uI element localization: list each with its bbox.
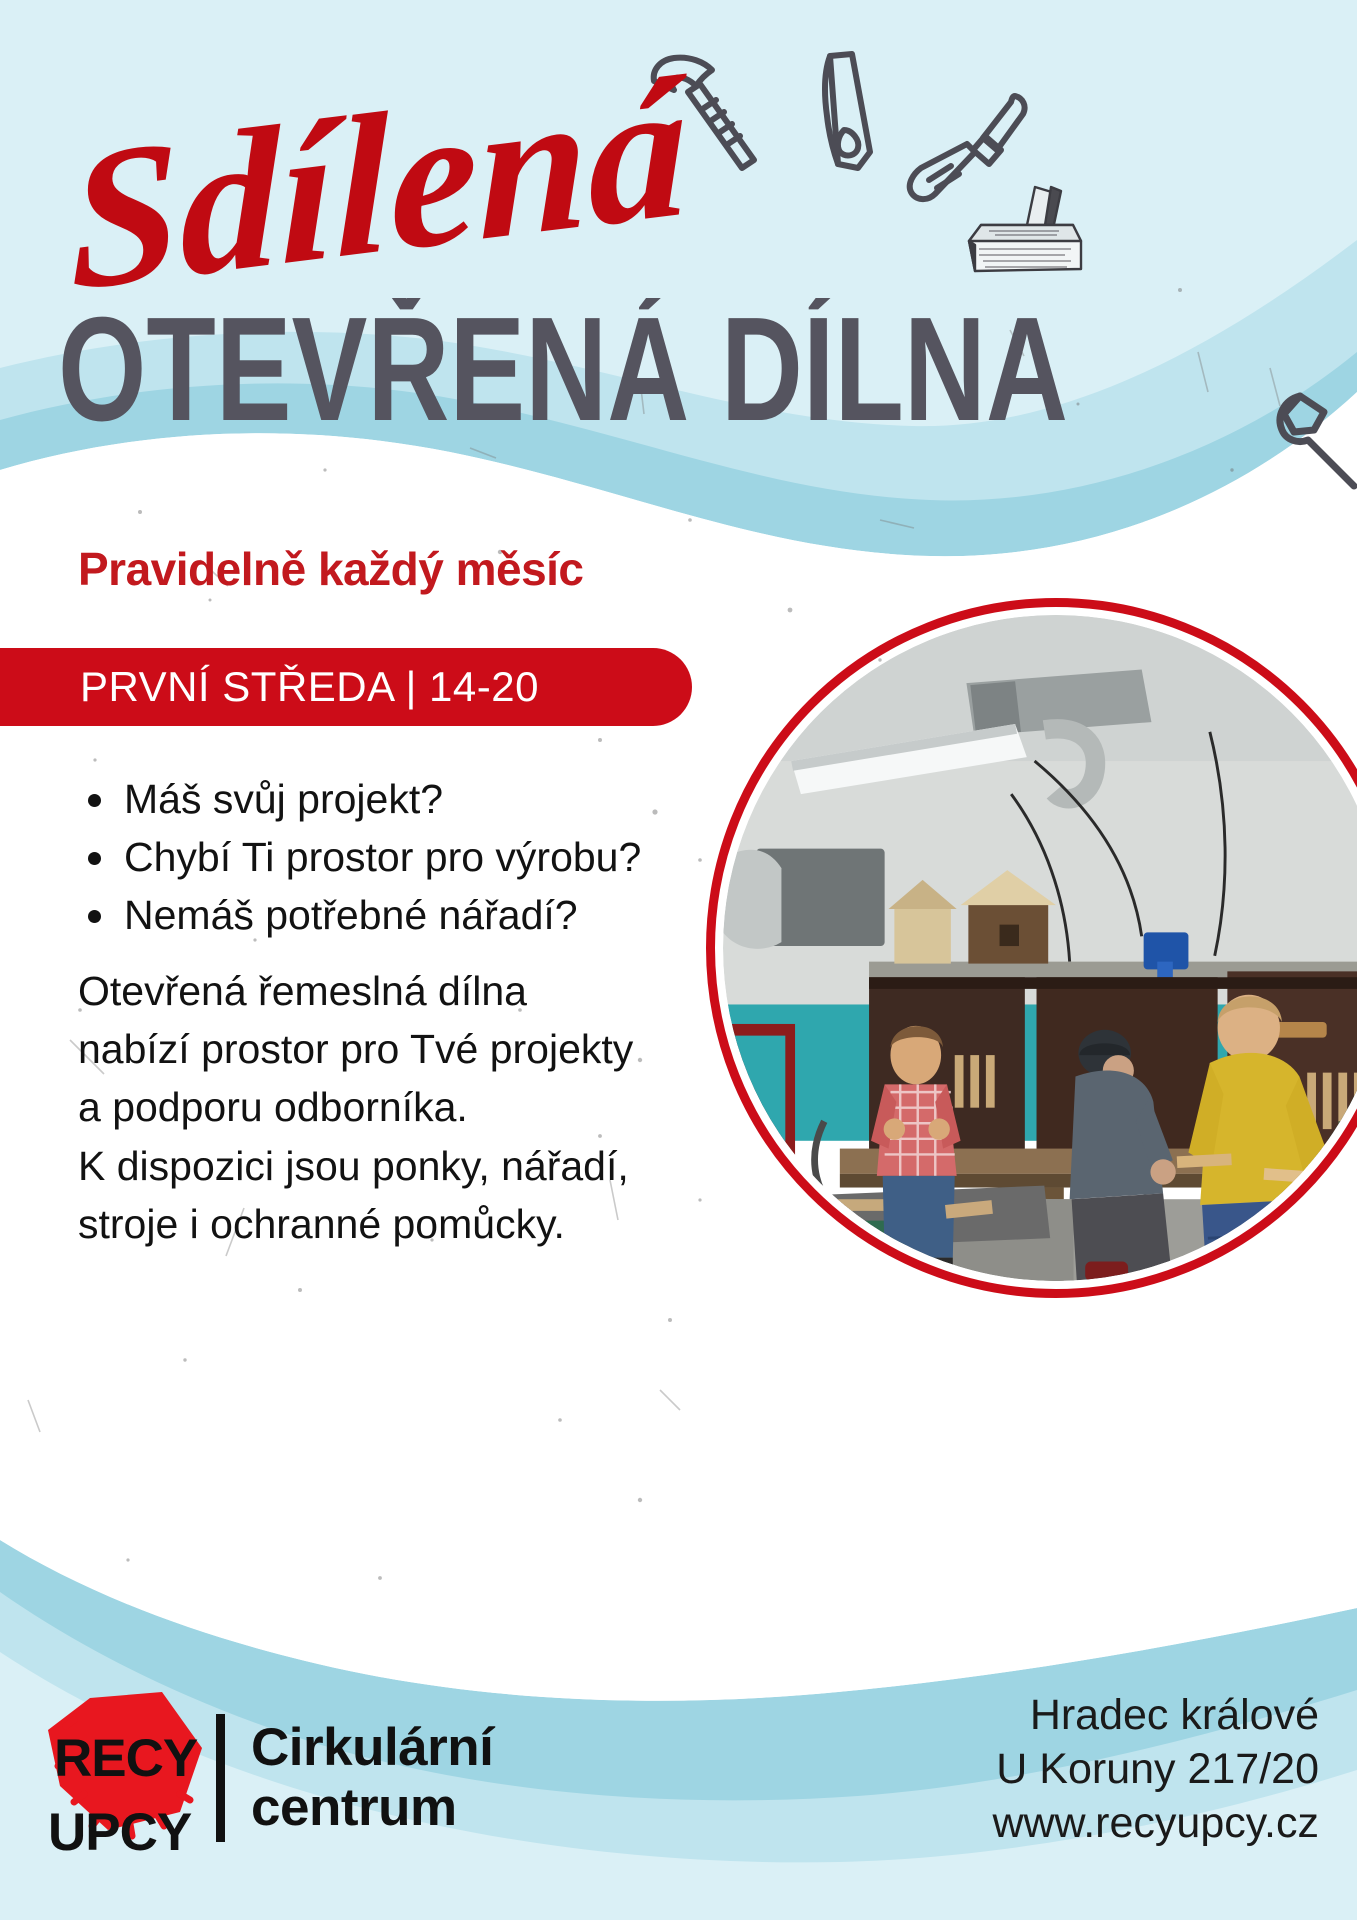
recyupcy-logo[interactable]: RECY UPCY Cirkulární centrum (38, 1688, 493, 1868)
poster-root: Sdílená OTEVŘENÁ DÍLNA Pravidelně každý … (0, 0, 1357, 1920)
svg-text:OTEVŘENÁ DÍLNA: OTEVŘENÁ DÍLNA (58, 298, 1068, 438)
question-bullet-list: Máš svůj projekt? Chybí Ti prostor pro v… (72, 770, 641, 945)
paragraph-line: Otevřená řemeslná dílna (78, 962, 633, 1020)
paragraph-line: nabízí prostor pro Tvé projekty (78, 1020, 633, 1078)
handsaw-icon (800, 48, 900, 198)
logo-divider (216, 1714, 225, 1842)
logo-wordmark-line1: Cirkulární (251, 1718, 493, 1778)
date-time-banner: PRVNÍ STŘEDA | 14-20 (0, 648, 692, 726)
contact-city: Hradec králové (992, 1688, 1319, 1742)
date-time-label: PRVNÍ STŘEDA | 14-20 (80, 663, 539, 711)
list-item: Chybí Ti prostor pro výrobu? (72, 828, 641, 886)
logo-wordmark: Cirkulární centrum (251, 1718, 493, 1839)
paragraph-line: a podporu odborníka. (78, 1078, 633, 1136)
description-paragraph: Otevřená řemeslná dílna nabízí prostor p… (78, 962, 633, 1253)
recyupcy-logo-mark: RECY UPCY (38, 1690, 210, 1866)
logo-wordmark-line2: centrum (251, 1778, 493, 1838)
list-item: Máš svůj projekt? (72, 770, 641, 828)
workshop-photo (723, 615, 1357, 1281)
wrench-icon (1262, 386, 1357, 491)
paragraph-line: K dispozici jsou ponky, nářadí, (78, 1137, 633, 1195)
subtitle: Pravidelně každý měsíc (78, 542, 584, 596)
paragraph-line: stroje i ochranné pomůcky. (78, 1195, 633, 1253)
contact-street: U Koruny 217/20 (992, 1742, 1319, 1796)
contact-block: Hradec králové U Koruny 217/20 www.recyu… (992, 1688, 1319, 1851)
list-item: Nemáš potřebné nářadí? (72, 886, 641, 944)
logo-mark-line2: UPCY (48, 1803, 192, 1862)
logo-mark-line1: RECY (54, 1729, 198, 1788)
page-title: OTEVŘENÁ DÍLNA (58, 298, 1068, 438)
hand-plane-icon (965, 185, 1085, 280)
contact-website[interactable]: www.recyupcy.cz (992, 1796, 1319, 1850)
